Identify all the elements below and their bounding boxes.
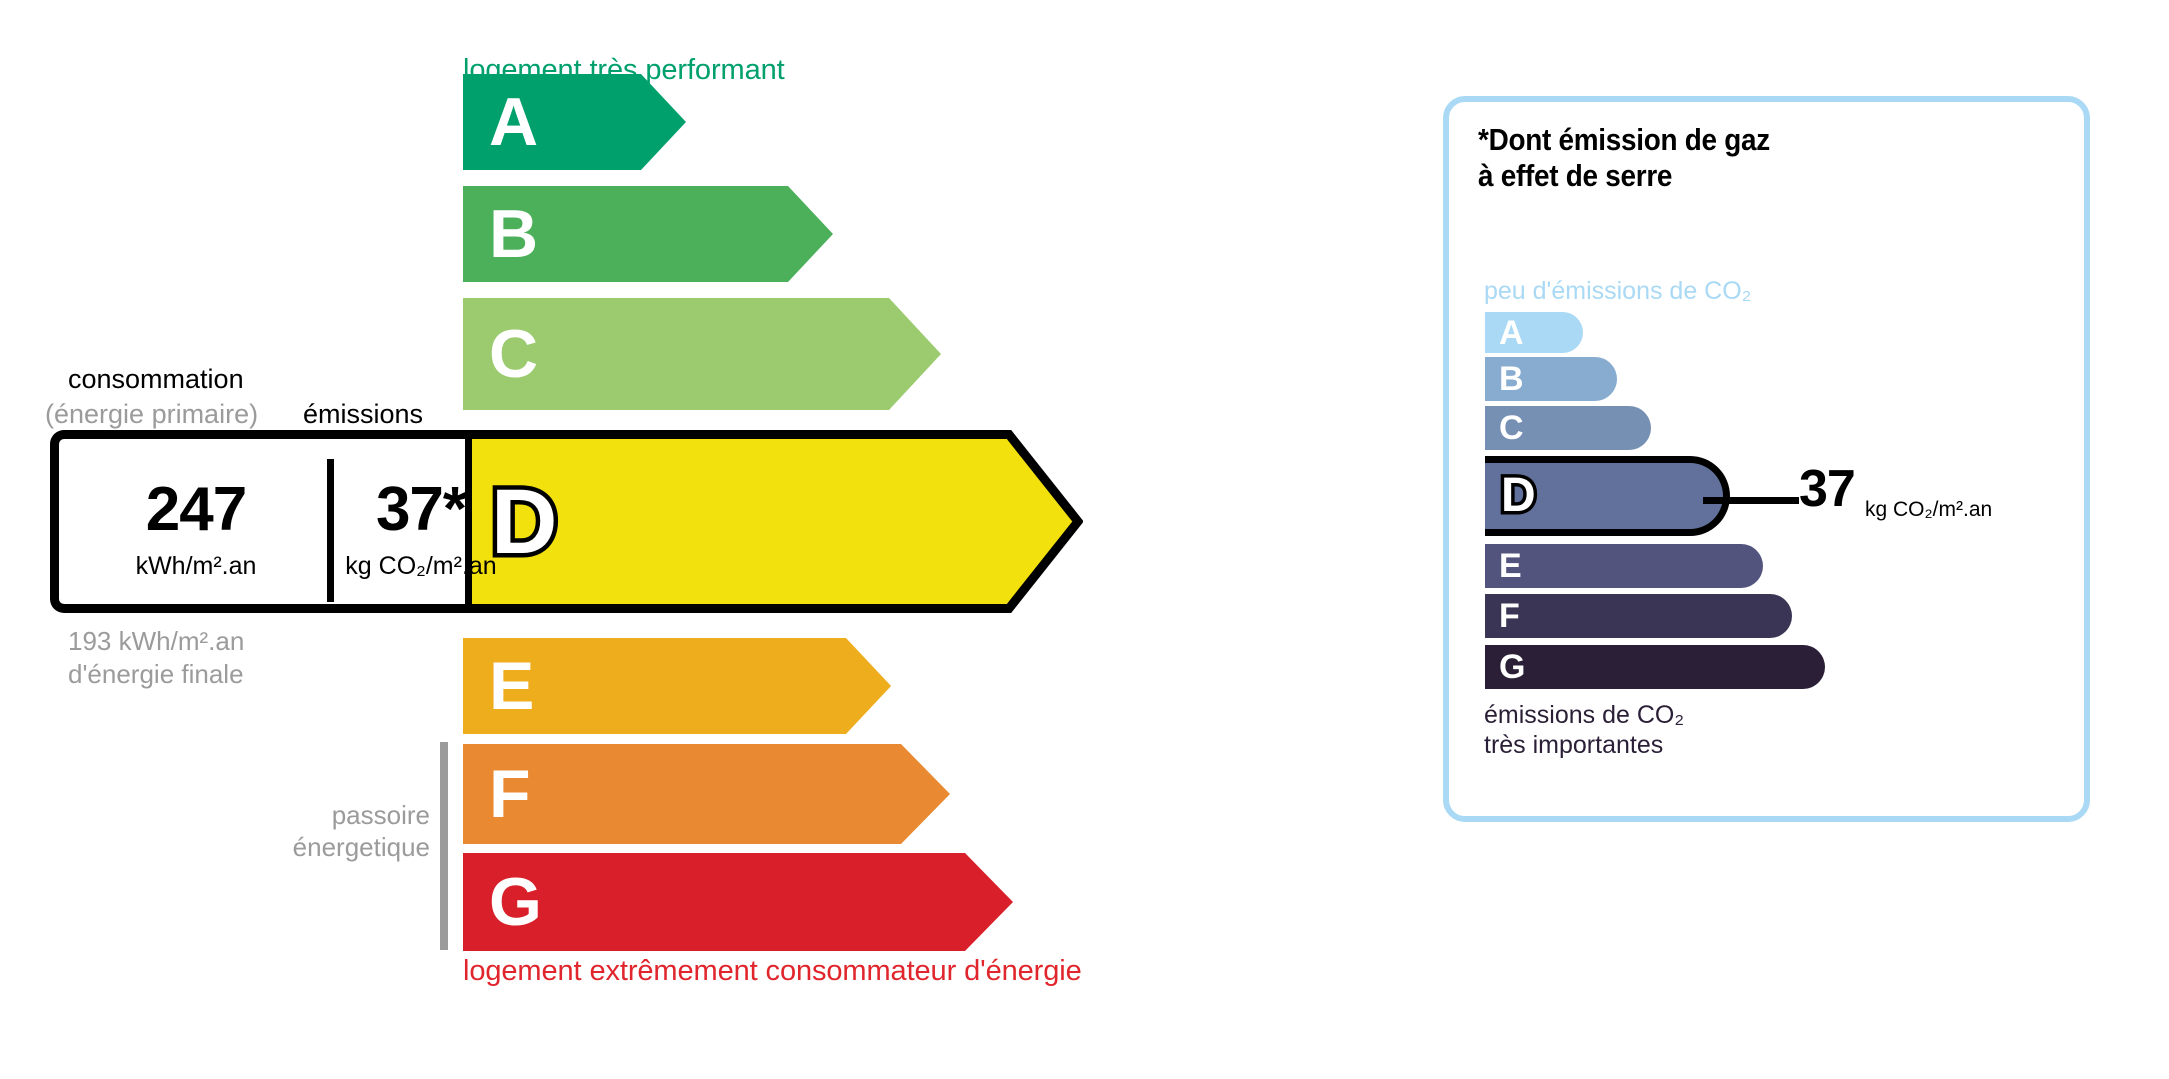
dpe-diagram: logement très performant A B C D E <box>0 0 2169 1079</box>
energy-value: 247 <box>77 479 315 541</box>
ges-callout-value: 37 <box>1799 463 1855 515</box>
energy-band-f: F <box>463 744 950 844</box>
ges-scale-bottom-label-line1: émissions de CO₂ <box>1484 700 1684 730</box>
ges-band-b-letter: B <box>1499 362 1524 396</box>
energy-band-c-letter: C <box>489 320 538 388</box>
ges-band-g-bar <box>1485 645 1825 689</box>
ges-band-d-letter: D <box>1501 472 1536 520</box>
ges-scale-top-label: peu d'émissions de CO₂ <box>1484 277 1751 306</box>
consumption-subheader: (énergie primaire) <box>45 399 258 430</box>
energy-band-c: C <box>463 298 941 410</box>
energy-band-g-arrow <box>463 853 1013 951</box>
ges-band-e: E <box>1485 544 1763 588</box>
energy-band-g: G <box>463 853 1013 951</box>
ges-callout-leader-line <box>1703 497 1799 504</box>
ges-scale-bottom-label-line2: très importantes <box>1484 730 1684 760</box>
passoire-line1: passoire <box>255 800 430 832</box>
ges-band-f-letter: F <box>1499 599 1520 633</box>
ges-band-c-letter: C <box>1499 411 1524 445</box>
ges-band-d: D <box>1485 456 1730 536</box>
ges-band-a: A <box>1485 312 1583 353</box>
energy-band-f-letter: F <box>489 760 531 828</box>
energy-value-cell: 247 kWh/m².an <box>77 479 315 579</box>
ges-scale-bottom-label: émissions de CO₂ très importantes <box>1484 700 1684 760</box>
ges-value-cell: 37* kg CO₂/m².an <box>331 479 511 579</box>
ges-band-e-bar <box>1485 544 1763 588</box>
ges-band-f-bar <box>1485 594 1792 638</box>
ges-band-f: F <box>1485 594 1792 638</box>
consumption-box: 247 kWh/m².an 37* kg CO₂/m².an <box>50 430 465 613</box>
energy-band-e-letter: E <box>489 652 534 720</box>
ges-unit: kg CO₂/m².an <box>331 554 511 579</box>
energy-unit: kWh/m².an <box>77 554 315 579</box>
emissions-header: émissions <box>303 399 423 430</box>
ges-panel-title-line2: à effet de serre <box>1478 158 1770 194</box>
final-energy-note: 193 kWh/m².an d'énergie finale <box>68 625 244 692</box>
ges-panel-title-line1: *Dont émission de gaz <box>1478 122 1770 158</box>
final-energy-value: 193 kWh/m².an <box>68 625 244 658</box>
ges-band-b: B <box>1485 357 1617 401</box>
ges-band-g-letter: G <box>1499 650 1525 684</box>
energy-band-g-letter: G <box>489 868 542 936</box>
ges-band-e-letter: E <box>1499 549 1522 583</box>
energy-scale-bottom-label: logement extrêmement consommateur d'éner… <box>463 955 1082 988</box>
ges-callout-unit: kg CO₂/m².an <box>1865 499 1992 520</box>
energy-band-a-letter: A <box>489 88 538 156</box>
ges-band-a-letter: A <box>1499 316 1524 350</box>
energy-band-d: D <box>463 430 1083 613</box>
energy-band-a: A <box>463 74 686 170</box>
energy-band-e: E <box>463 638 891 734</box>
passoire-label: passoire énergetique <box>255 800 430 863</box>
ges-value: 37* <box>331 479 511 541</box>
consumption-header: consommation <box>68 364 244 395</box>
ges-panel-title: *Dont émission de gaz à effet de serre <box>1478 122 1770 195</box>
final-energy-label: d'énergie finale <box>68 658 244 691</box>
ges-band-c: C <box>1485 406 1651 450</box>
passoire-line2: énergetique <box>255 832 430 864</box>
energy-band-b-letter: B <box>489 200 538 268</box>
ges-band-g: G <box>1485 645 1825 689</box>
energy-band-b: B <box>463 186 833 282</box>
energy-band-f-arrow <box>463 744 950 844</box>
passoire-rule <box>440 742 448 950</box>
